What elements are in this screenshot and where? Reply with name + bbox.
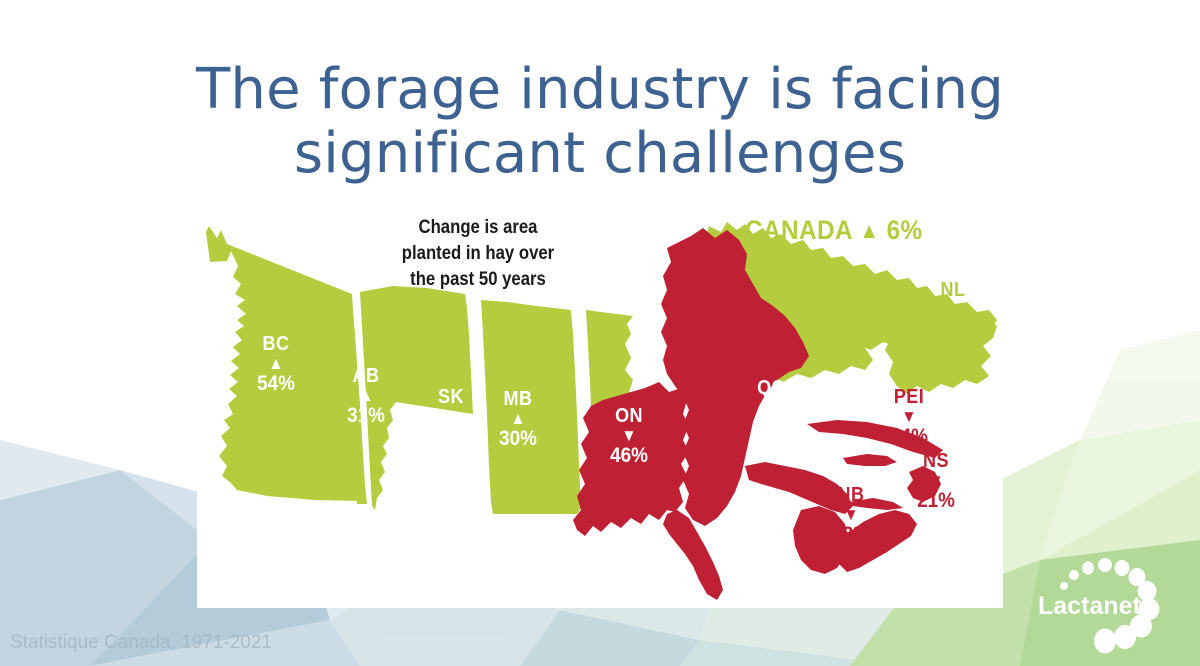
region-on-peninsula: [663, 510, 723, 600]
up-arrow-icon: ▲: [432, 409, 470, 425]
province-abbr: QC: [752, 378, 790, 398]
province-value: 21%: [917, 490, 955, 511]
canada-map: [197, 214, 1003, 608]
province-label-ab: AB▲31%: [347, 366, 385, 426]
province-value: 56%: [934, 319, 972, 340]
province-abbr: NB: [832, 485, 870, 505]
province-label-sk: SK▲98%: [432, 387, 470, 447]
canada-up-arrow-icon: ▲: [859, 218, 879, 243]
down-arrow-icon: ▼: [610, 428, 648, 444]
province-value: 14%: [890, 426, 928, 447]
province-value: 30%: [499, 428, 537, 449]
canada-national-stat: CANADA ▲ 6%: [745, 215, 923, 246]
province-value: 98%: [432, 426, 470, 447]
source-note: Statistique Canada, 1971-2021: [10, 632, 272, 654]
lactanet-logo: Lactanet: [1020, 548, 1200, 666]
up-arrow-icon: ▲: [257, 356, 295, 372]
province-label-mb: MB▲30%: [499, 389, 537, 449]
province-abbr: NL: [934, 280, 972, 300]
province-label-bc: BC▲54%: [257, 334, 295, 394]
province-abbr: BC: [257, 334, 295, 354]
logo-wordmark: Lactanet: [1038, 592, 1141, 620]
region-pei: [843, 454, 897, 466]
down-arrow-icon: ▼: [917, 473, 955, 489]
province-label-nb: NB▼18%: [832, 485, 870, 545]
province-abbr: NS: [917, 451, 955, 471]
slide-title: The forage industry is facing significan…: [0, 58, 1200, 186]
province-abbr: SK: [432, 387, 470, 407]
down-arrow-icon: ▼: [890, 409, 928, 425]
canada-value: 6%: [887, 215, 923, 245]
canada-label: CANADA: [745, 215, 852, 245]
province-label-pei: PEI▼14%: [890, 387, 928, 447]
province-value: 31%: [347, 405, 385, 426]
down-arrow-icon: ▼: [832, 507, 870, 523]
up-arrow-icon: ▲: [347, 388, 385, 404]
map-caption: Change is area planted in hay over the p…: [390, 215, 566, 293]
province-abbr: MB: [499, 389, 537, 409]
province-abbr: PEI: [890, 387, 928, 407]
title-line-2: significant challenges: [0, 122, 1200, 186]
title-line-1: The forage industry is facing: [196, 57, 1004, 122]
province-label-nl: NL▲56%: [934, 280, 972, 340]
province-label-on: ON▼46%: [610, 406, 648, 466]
province-label-ns: NS▼21%: [917, 451, 955, 511]
up-arrow-icon: ▲: [499, 411, 537, 427]
province-value: 18%: [832, 524, 870, 545]
down-arrow-icon: ▼: [752, 400, 790, 416]
province-value: 46%: [610, 445, 648, 466]
province-abbr: ON: [610, 406, 648, 426]
province-abbr: AB: [347, 366, 385, 386]
province-label-qc: QC▼41%: [752, 378, 790, 438]
province-value: 41%: [752, 417, 790, 438]
slide-canvas: The forage industry is facing significan…: [0, 0, 1200, 666]
up-arrow-icon: ▲: [934, 302, 972, 318]
province-value: 54%: [257, 373, 295, 394]
